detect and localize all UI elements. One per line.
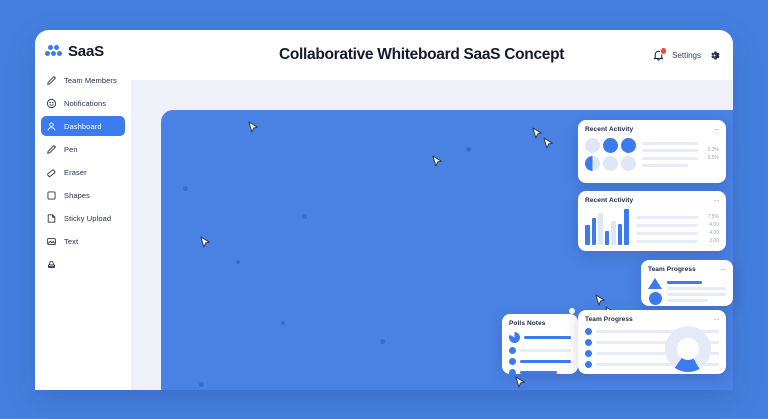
metric-value: 7.5% [702, 215, 719, 220]
metric-row: 5.5% [642, 156, 719, 161]
card-body [585, 328, 719, 368]
sidebar-item-stamp[interactable] [41, 254, 125, 274]
dot-icon [585, 328, 592, 335]
poll-row [509, 358, 571, 365]
placeholder-bar [636, 232, 699, 235]
progress-rows [667, 281, 726, 302]
bar-chart-icon [585, 209, 629, 245]
card-body: 0.3% 5.5% [585, 138, 719, 171]
chart-bar [611, 221, 616, 245]
sidebar-nav: Team Members Notifications [35, 70, 131, 274]
sidebar-item-label: Notifications [64, 99, 106, 108]
board-dot [281, 321, 285, 325]
placeholder-bar [642, 149, 698, 152]
metric-rows: 0.3% 5.5% [642, 138, 719, 171]
card-body: 7.5% 4.00 4.00 3.00 [585, 209, 719, 245]
metric-value: 4.00 [702, 223, 719, 228]
card-recent-activity-bars[interactable]: Recent Activity 7.5% 4.00 4.00 [578, 191, 726, 251]
header: Collaborative Whiteboard SaaS Concept Se… [131, 30, 733, 80]
sidebar-item-label: Dashboard [64, 122, 102, 131]
card-title: Polls Notes [509, 320, 546, 327]
stamp-icon [46, 259, 57, 270]
chart-bar [592, 218, 597, 245]
metric-rows: 7.5% 4.00 4.00 3.00 [636, 215, 720, 245]
metric-value: 5.5% [702, 156, 719, 161]
brand: SaaS [35, 30, 131, 60]
cursor-pointer-icon [515, 376, 526, 390]
more-dots-icon[interactable] [714, 319, 719, 321]
brand-name: SaaS [68, 43, 104, 60]
dot-icon [585, 350, 592, 357]
metric-row [642, 164, 719, 167]
card-recent-activity-circles[interactable]: Recent Activity [578, 120, 726, 183]
card-title: Team Progress [648, 266, 696, 273]
more-dots-icon[interactable] [721, 269, 726, 271]
dots-logo-icon [45, 45, 62, 58]
board-dot [236, 260, 240, 264]
note-icon [46, 213, 57, 224]
settings-label[interactable]: Settings [672, 51, 701, 60]
sidebar-item-notifications[interactable]: Notifications [41, 93, 125, 113]
card-header: Recent Activity [585, 126, 719, 133]
board-dot [183, 186, 188, 191]
square-icon [46, 190, 57, 201]
card-header: Team Progress [648, 266, 726, 273]
progress-bar-accent [520, 371, 557, 374]
cursor-pointer-icon [543, 137, 554, 151]
placeholder-bar [636, 240, 699, 243]
sidebar: SaaS Team Members [35, 30, 131, 390]
sidebar-item-label: Eraser [64, 168, 87, 177]
poll-row [509, 347, 571, 354]
sidebar-item-label: Shapes [64, 191, 90, 200]
chart-bar [605, 231, 610, 245]
poll-row [509, 369, 571, 376]
circle-pale [603, 156, 618, 171]
circle-half [585, 156, 600, 171]
circle-icon [649, 292, 662, 305]
poll-row [509, 332, 571, 343]
chart-bar [585, 225, 590, 245]
card-header: Team Progress [585, 316, 719, 323]
card-title: Recent Activity [585, 126, 633, 133]
dot-icon [585, 361, 592, 368]
sidebar-item-sticky-upload[interactable]: Sticky Upload [41, 208, 125, 228]
card-header: Recent Activity [585, 197, 719, 204]
card-title: Recent Activity [585, 197, 633, 204]
circle-row [585, 138, 636, 153]
circle-pale [621, 156, 636, 171]
board-dot [380, 339, 385, 344]
placeholder-bar [667, 287, 726, 290]
card-body [509, 332, 571, 376]
placeholder-bar [667, 293, 726, 296]
placeholder-bar [520, 349, 571, 352]
donut-chart-icon [665, 326, 711, 372]
sidebar-item-label: Pen [64, 145, 78, 154]
sidebar-item-dashboard[interactable]: Dashboard [41, 116, 125, 136]
metric-row: 3.00 [636, 239, 720, 244]
pen-icon [46, 75, 57, 86]
eraser-icon [46, 167, 57, 178]
card-team-progress-donut[interactable]: Team Progress [578, 310, 726, 374]
card-title: Team Progress [585, 316, 633, 323]
circle-solid [621, 138, 636, 153]
sidebar-item-label: Team Members [64, 76, 117, 85]
cursor-pointer-icon [432, 155, 443, 169]
board-dot [302, 214, 307, 219]
sidebar-item-eraser[interactable]: Eraser [41, 162, 125, 182]
gear-icon[interactable] [708, 49, 721, 62]
placeholder-bar [642, 164, 688, 167]
card-body [648, 278, 726, 305]
notification-badge [660, 47, 668, 55]
placeholder-bar [636, 216, 699, 219]
circle-grid [585, 138, 636, 171]
metric-row: 4.00 [636, 231, 720, 236]
page-title: Collaborative Whiteboard SaaS Concept [131, 46, 652, 64]
header-actions: Settings [652, 48, 733, 62]
metric-value: 0.3% [702, 148, 719, 153]
metric-row: 7.5% [636, 215, 720, 220]
user-icon [46, 121, 57, 132]
placeholder-bar [642, 142, 698, 145]
metric-value: 3.00 [702, 239, 719, 244]
chart-bar [624, 209, 629, 245]
metric-value: 4.00 [702, 231, 719, 236]
board-dot [199, 382, 204, 387]
bell-icon[interactable] [652, 48, 665, 62]
circle-row [585, 156, 636, 171]
cursor-pointer-icon [200, 236, 211, 250]
dot-icon [509, 358, 516, 365]
dot-icon [509, 347, 516, 354]
screen: SaaS Team Members [0, 0, 768, 419]
placeholder-bar [642, 157, 698, 160]
pen-icon [46, 144, 57, 155]
sidebar-item-label: Sticky Upload [64, 214, 111, 223]
chart-bar [598, 213, 603, 245]
smiley-icon [46, 98, 57, 109]
shape-stack [648, 278, 662, 305]
card-team-progress-shapes[interactable]: Team Progress [641, 260, 733, 306]
cursor-pointer-icon [532, 127, 543, 141]
chart-bar [618, 224, 623, 245]
circle-solid [603, 138, 618, 153]
circle-pale [585, 138, 600, 153]
progress-bar-accent [667, 281, 702, 284]
sidebar-item-label: Text [64, 237, 78, 246]
dot-icon [585, 339, 592, 346]
placeholder-bar [667, 299, 708, 302]
placeholder-bar [636, 224, 699, 227]
more-dots-icon[interactable] [714, 200, 719, 202]
image-icon [46, 236, 57, 247]
metric-row: 4.00 [636, 223, 720, 228]
dot-icon [509, 369, 516, 376]
progress-bar-accent [520, 360, 571, 363]
sidebar-item-pen[interactable]: Pen [41, 139, 125, 159]
pac-icon [509, 332, 520, 343]
sidebar-item-shapes[interactable]: Shapes [41, 185, 125, 205]
progress-bar-accent [524, 336, 571, 339]
sidebar-item-text[interactable]: Text [41, 231, 125, 251]
card-polls-notes[interactable]: Polls Notes [502, 314, 578, 374]
sidebar-item-team-members[interactable]: Team Members [41, 70, 125, 90]
more-dots-icon[interactable] [714, 129, 719, 131]
metric-row [642, 142, 719, 145]
card-header: Polls Notes [509, 320, 571, 327]
triangle-icon [648, 278, 662, 289]
cursor-pointer-icon [248, 121, 259, 135]
metric-row: 0.3% [642, 148, 719, 153]
board-dot [466, 147, 471, 152]
